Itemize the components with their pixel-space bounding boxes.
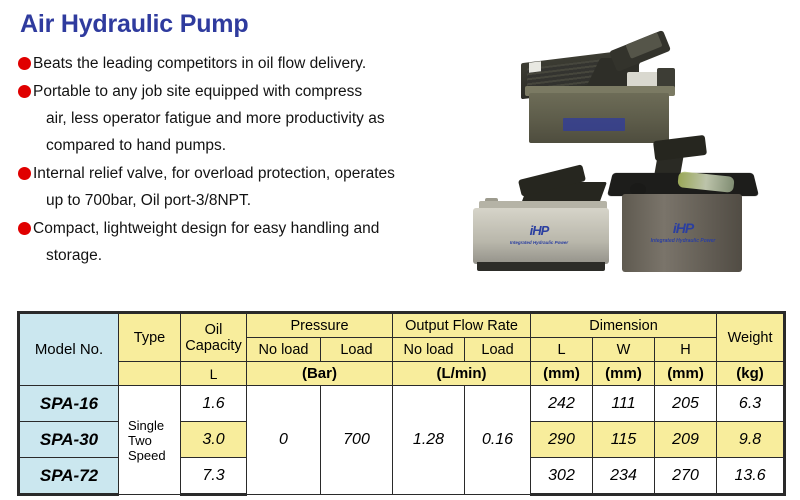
cell-dim-h: 270 <box>655 458 717 495</box>
unit-weight: (kg) <box>717 362 785 386</box>
spec-table: Model No. Type Oil Capacity Pressure Out… <box>17 311 786 496</box>
pump-base <box>477 262 605 271</box>
feature-text-4-cont: storage. <box>33 242 379 269</box>
cell-dim-h: 205 <box>655 386 717 422</box>
cell-weight: 9.8 <box>717 422 785 458</box>
cell-pressure-load: 700 <box>321 386 393 495</box>
brand-tagline-text: Integrated Hydraulic Power <box>648 235 718 248</box>
header-pressure-no-load: No load <box>247 338 321 362</box>
header-flow-load: Load <box>465 338 531 362</box>
cell-oil-capacity: 1.6 <box>181 386 247 422</box>
header-pressure: Pressure <box>247 313 393 338</box>
brand-logo-text: iHP <box>673 220 693 236</box>
feature-text-4-line1: Compact, lightweight design for easy han… <box>33 220 379 237</box>
cell-dim-w: 111 <box>593 386 655 422</box>
unit-dim-h: (mm) <box>655 362 717 386</box>
page-title: Air Hydraulic Pump <box>20 10 248 39</box>
unit-oil-capacity: L <box>181 362 247 386</box>
header-type: Type <box>119 313 181 362</box>
pump-brand-decal <box>563 118 625 131</box>
cell-oil-capacity: 3.0 <box>181 422 247 458</box>
cell-dim-h: 209 <box>655 422 717 458</box>
header-model-no: Model No. <box>19 313 119 386</box>
cell-model: SPA-30 <box>19 422 119 458</box>
feature-list: Beats the leading competitors in oil flo… <box>18 50 488 270</box>
feature-text-2-line1: Portable to any job site equipped with c… <box>33 83 362 100</box>
cell-flow-no-load: 1.28 <box>393 386 465 495</box>
table-unit-row: L (Bar) (L/min) (mm) (mm) (mm) (kg) <box>19 362 785 386</box>
pump-photo-right: iHPIntegrated Hydraulic Power <box>600 136 780 286</box>
cell-type: Single Two Speed <box>119 386 181 495</box>
unit-dim-w: (mm) <box>593 362 655 386</box>
header-pressure-load: Load <box>321 338 393 362</box>
pump-label-tag <box>529 61 541 72</box>
feature-item-2: Portable to any job site equipped with c… <box>18 78 488 159</box>
feature-text-3-line1: Internal relief valve, for overload prot… <box>33 165 395 182</box>
header-oil-capacity: Oil Capacity <box>181 313 247 362</box>
unit-type-blank <box>119 362 181 386</box>
cell-weight: 6.3 <box>717 386 785 422</box>
table-row: SPA-16 Single Two Speed 1.6 0 700 1.28 0… <box>19 386 785 422</box>
header-dimension: Dimension <box>531 313 717 338</box>
bullet-dot-icon <box>18 167 31 180</box>
feature-item-1: Beats the leading competitors in oil flo… <box>18 50 488 77</box>
header-dim-h: H <box>655 338 717 362</box>
cell-dim-w: 234 <box>593 458 655 495</box>
feature-text-3: Internal relief valve, for overload prot… <box>33 160 395 214</box>
cell-model: SPA-72 <box>19 458 119 495</box>
feature-text-2: Portable to any job site equipped with c… <box>33 78 385 159</box>
header-output-flow-rate: Output Flow Rate <box>393 313 531 338</box>
feature-text-2-cont: air, less operator fatigue and more prod… <box>33 105 385 159</box>
bullet-dot-icon <box>18 222 31 235</box>
brand-tagline-text: Integrated Hydraulic Power <box>509 237 569 249</box>
feature-item-4: Compact, lightweight design for easy han… <box>18 215 488 269</box>
brand-logo-ihp: iHPIntegrated Hydraulic Power <box>648 222 718 248</box>
cell-dim-l: 242 <box>531 386 593 422</box>
feature-text-4: Compact, lightweight design for easy han… <box>33 215 379 269</box>
unit-flow: (L/min) <box>393 362 531 386</box>
unit-dim-l: (mm) <box>531 362 593 386</box>
bullet-dot-icon <box>18 57 31 70</box>
feature-text-1: Beats the leading competitors in oil flo… <box>33 50 366 77</box>
header-flow-no-load: No load <box>393 338 465 362</box>
unit-pressure: (Bar) <box>247 362 393 386</box>
table-header-row-1: Model No. Type Oil Capacity Pressure Out… <box>19 313 785 338</box>
feature-item-3: Internal relief valve, for overload prot… <box>18 160 488 214</box>
brand-logo-ihp: iHPIntegrated Hydraulic Power <box>509 225 569 249</box>
cell-model: SPA-16 <box>19 386 119 422</box>
cell-dim-l: 302 <box>531 458 593 495</box>
cell-oil-capacity: 7.3 <box>181 458 247 495</box>
pump-photo-top <box>515 36 700 151</box>
bullet-dot-icon <box>18 85 31 98</box>
cell-dim-w: 115 <box>593 422 655 458</box>
header-weight: Weight <box>717 313 785 362</box>
cell-flow-load: 0.16 <box>465 386 531 495</box>
product-photo-group: iHPIntegrated Hydraulic Power iHPIntegra… <box>455 28 800 298</box>
cell-pressure-no-load: 0 <box>247 386 321 495</box>
header-dim-w: W <box>593 338 655 362</box>
cell-weight: 13.6 <box>717 458 785 495</box>
header-dim-l: L <box>531 338 593 362</box>
brand-logo-text: iHP <box>530 223 549 238</box>
pump-foot-pedal <box>653 135 707 161</box>
cell-dim-l: 290 <box>531 422 593 458</box>
feature-text-3-cont: up to 700bar, Oil port-3/8NPT. <box>33 187 395 214</box>
